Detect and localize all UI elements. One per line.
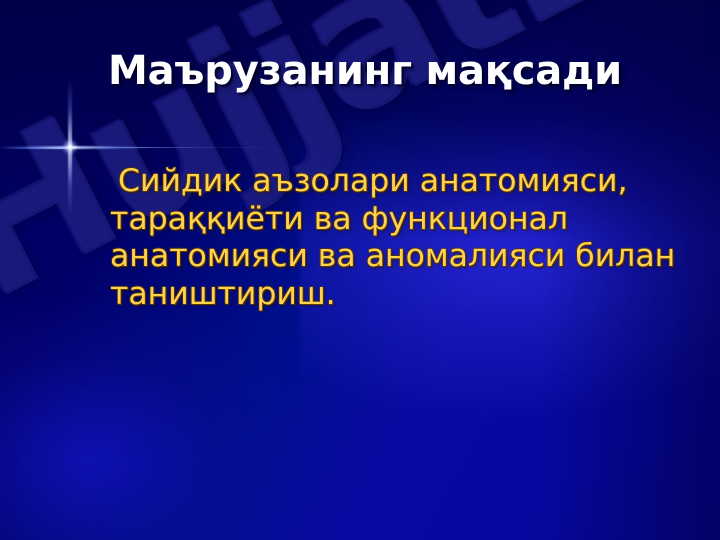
body-line: таништириш.	[110, 276, 680, 314]
slide-title: Маърузанинг мақсади	[108, 50, 668, 92]
presentation-slide: Hujjat24 Маърузанинг мақсади Сийдик аъзо…	[0, 0, 720, 540]
body-line: Сийдик аъзолари анатомияси,	[110, 163, 680, 201]
body-line: тараққиёти ва функционал	[110, 201, 680, 239]
slide-content: Маърузанинг мақсади Сийдик аъзолари анат…	[0, 0, 720, 540]
slide-body-text: Сийдик аъзолари анатомияси, тараққиёти в…	[110, 163, 680, 313]
body-line: анатомияси ва аномалияси билан	[110, 238, 680, 276]
